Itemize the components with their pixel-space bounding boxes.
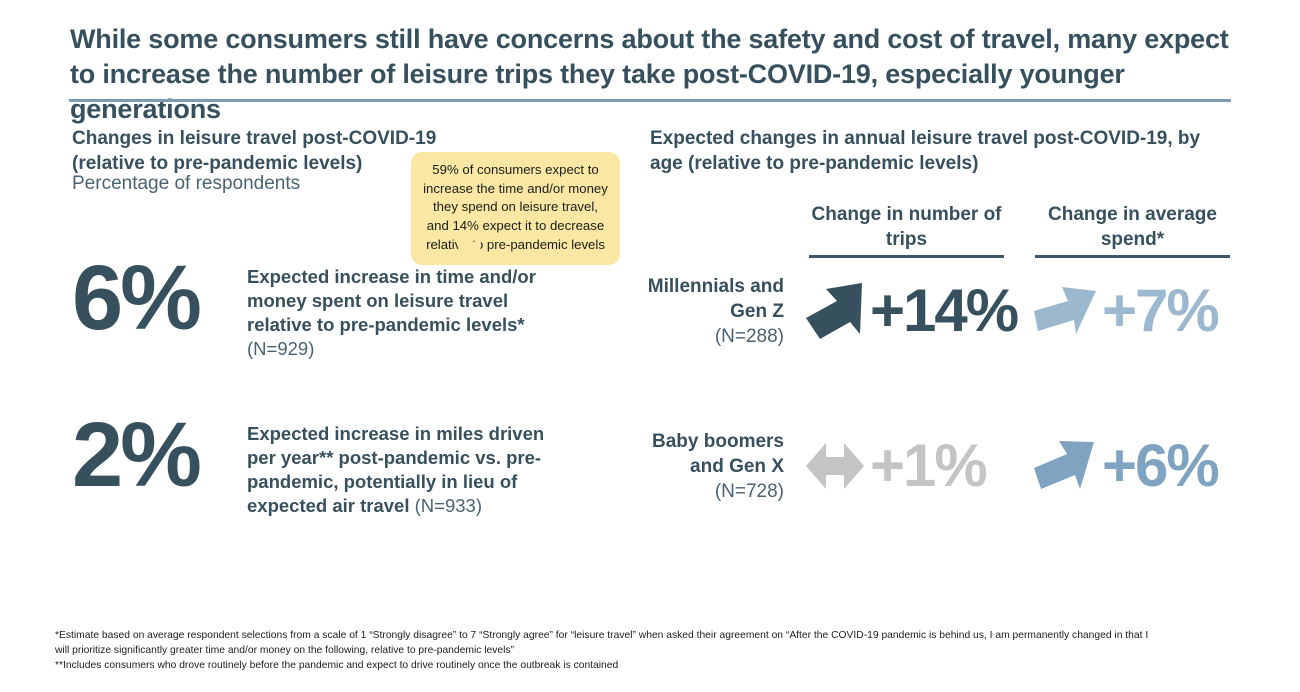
metric-trips: +1%: [802, 429, 986, 503]
arrow-flat-double-icon: [802, 439, 868, 493]
column-header-spend: Change in average spend*: [1035, 203, 1230, 252]
footnote-line: will prioritize significantly greater ti…: [55, 643, 1255, 658]
column-header-trips: Change in number of trips: [809, 203, 1004, 252]
stat-block-miles-driven: 2% Expected increase in miles driven per…: [72, 410, 577, 518]
left-section-subheading: Percentage of respondents: [72, 173, 300, 195]
age-group-row: Millennials and Gen Z(N=288) +14% +7%: [640, 270, 1240, 380]
age-group-name: Millennials and Gen Z: [648, 276, 784, 322]
column-header-spend-underline: [1035, 255, 1230, 258]
age-group-sample-size: (N=288): [640, 324, 784, 349]
footnote-line: **Includes consumers who drove routinely…: [55, 658, 1255, 673]
stat-value: 2%: [72, 410, 247, 500]
stat-sample-size: (N=929): [247, 338, 314, 359]
right-section-heading: Expected changes in annual leisure trave…: [650, 126, 1220, 176]
arrow-up-steep-icon: [802, 281, 868, 341]
arrow-up-shallow-icon: [1030, 283, 1100, 339]
stat-description-text: Expected increase in time and/or money s…: [247, 266, 536, 335]
title-divider: [69, 99, 1231, 102]
stat-description-text: Expected increase in miles driven per ye…: [247, 423, 544, 516]
metric-trips: +14%: [802, 274, 1017, 348]
age-group-label: Baby boomers and Gen X(N=728): [640, 429, 784, 504]
footnotes: *Estimate based on average respondent se…: [55, 628, 1255, 674]
age-group-sample-size: (N=728): [640, 479, 784, 504]
arrow-up-medium-icon: [1030, 437, 1100, 495]
metric-value: +7%: [1102, 281, 1218, 341]
stat-sample-size: (N=933): [415, 495, 482, 516]
page-title: While some consumers still have concerns…: [70, 22, 1230, 127]
age-group-row: Baby boomers and Gen X(N=728) +1% +6%: [640, 425, 1240, 535]
metric-spend: +6%: [1030, 429, 1218, 503]
footnote-line: *Estimate based on average respondent se…: [55, 628, 1255, 643]
age-group-label: Millennials and Gen Z(N=288): [640, 274, 784, 349]
callout-bubble: 59% of consumers expect to increase the …: [411, 152, 620, 265]
stat-value: 6%: [72, 253, 247, 343]
column-header-trips-underline: [809, 255, 1004, 258]
stat-description: Expected increase in miles driven per ye…: [247, 410, 577, 518]
metric-value: +1%: [870, 436, 986, 496]
age-group-name: Baby boomers and Gen X: [652, 431, 784, 477]
metric-value: +6%: [1102, 436, 1218, 496]
stat-description: Expected increase in time and/or money s…: [247, 253, 577, 361]
metric-spend: +7%: [1030, 274, 1218, 348]
metric-value: +14%: [870, 281, 1017, 341]
stat-block-time-money: 6% Expected increase in time and/or mone…: [72, 253, 577, 361]
